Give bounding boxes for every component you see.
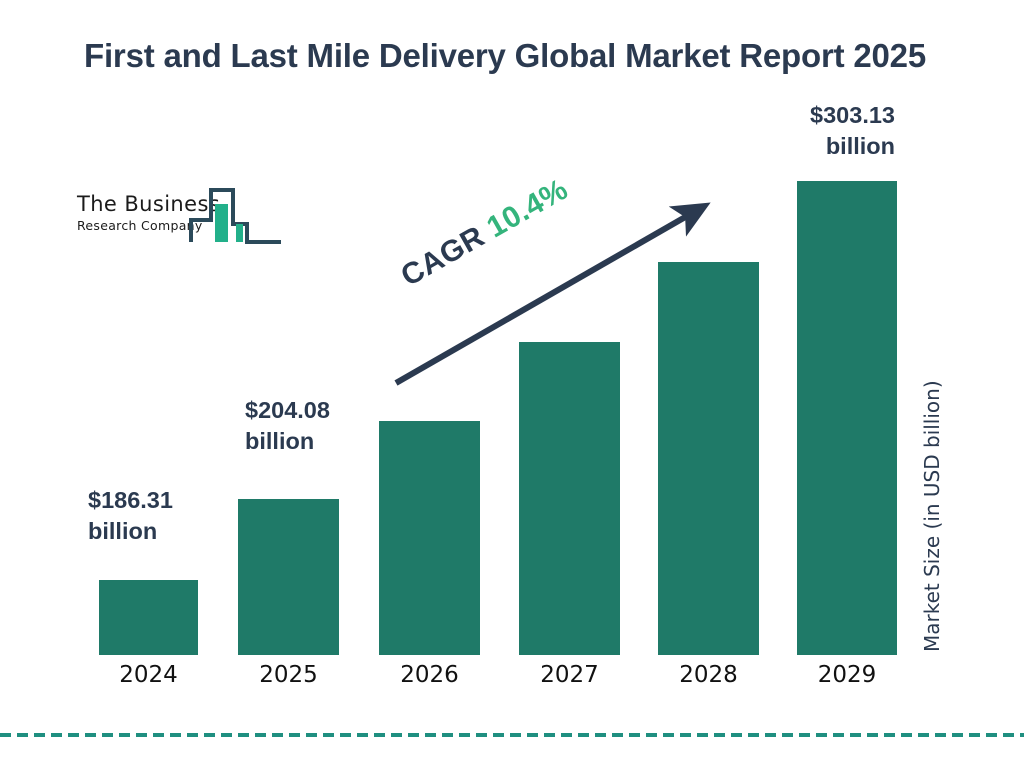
- callout-unit: billion: [745, 131, 895, 162]
- value-callout-2025: $204.08 billion: [245, 395, 330, 458]
- value-callout-2024: $186.31 billion: [88, 485, 173, 548]
- value-callout-2029: $303.13 billion: [745, 100, 895, 163]
- callout-amount: $303.13: [810, 102, 895, 128]
- y-axis-label-wrap: Market Size (in USD billion): [920, 652, 921, 653]
- callout-unit: billion: [245, 426, 330, 457]
- footer-divider: [0, 733, 1024, 737]
- y-axis-label: Market Size (in USD billion): [920, 332, 944, 652]
- callout-amount: $204.08: [245, 397, 330, 423]
- callout-unit: billion: [88, 516, 173, 547]
- callout-amount: $186.31: [88, 487, 173, 513]
- chart-canvas: First and Last Mile Delivery Global Mark…: [0, 0, 1024, 768]
